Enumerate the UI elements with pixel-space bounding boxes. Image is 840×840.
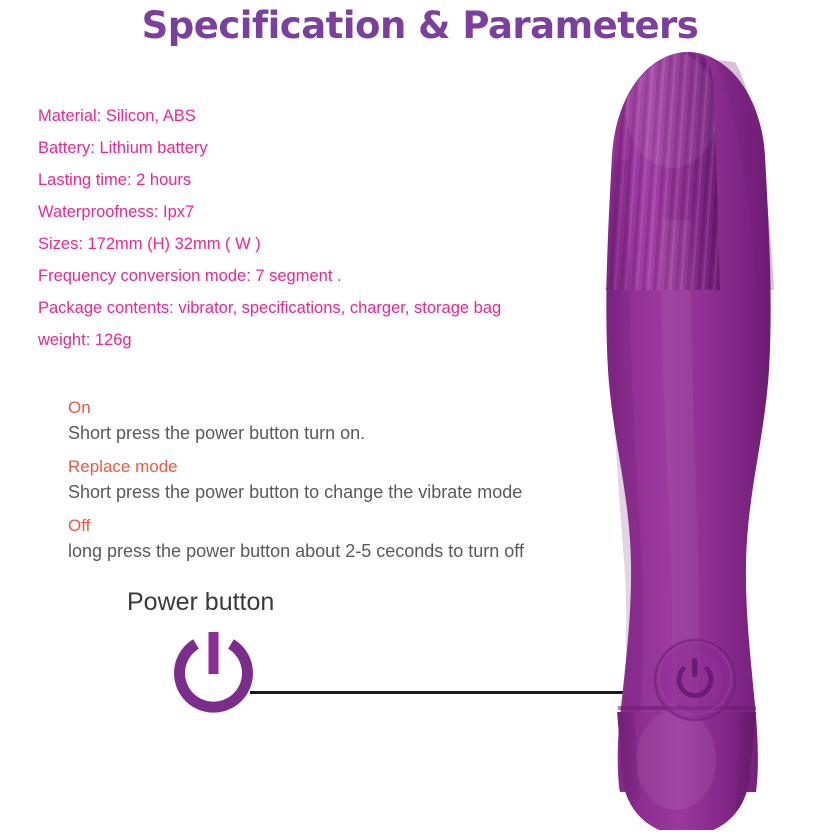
product-power-button[interactable] [655, 640, 735, 720]
power-icon [166, 627, 261, 722]
usage-instructions: On Short press the power button turn on.… [68, 396, 628, 573]
specification-list: Material: Silicon, ABS Battery: Lithium … [38, 100, 598, 356]
instruction-block-on: On Short press the power button turn on. [68, 396, 628, 446]
instruction-heading: On [68, 396, 628, 420]
instruction-body: long press the power button about 2-5 ce… [68, 538, 628, 564]
power-button-callout-label: Power button [127, 588, 274, 617]
instruction-block-replace-mode: Replace mode Short press the power butto… [68, 455, 628, 505]
spec-line: Material: Silicon, ABS [38, 100, 598, 132]
instruction-heading: Off [68, 514, 628, 538]
instruction-heading: Replace mode [68, 455, 628, 479]
spec-line: Package contents: vibrator, specificatio… [38, 292, 598, 324]
instruction-body: Short press the power button to change t… [68, 479, 628, 505]
spec-line: Waterproofness: Ipx7 [38, 196, 598, 228]
spec-line: Frequency conversion mode: 7 segment . [38, 260, 598, 292]
spec-line: Lasting time: 2 hours [38, 164, 598, 196]
spec-line: weight: 126g [38, 324, 598, 356]
spec-line: Sizes: 172mm (H) 32mm ( W ) [38, 228, 598, 260]
instruction-block-off: Off long press the power button about 2-… [68, 514, 628, 564]
spec-line: Battery: Lithium battery [38, 132, 598, 164]
product-image [560, 40, 840, 830]
instruction-body: Short press the power button turn on. [68, 420, 628, 446]
product-base-cap [617, 710, 758, 830]
product-spec-page: Specification & Parameters Material: Sil… [0, 0, 840, 840]
